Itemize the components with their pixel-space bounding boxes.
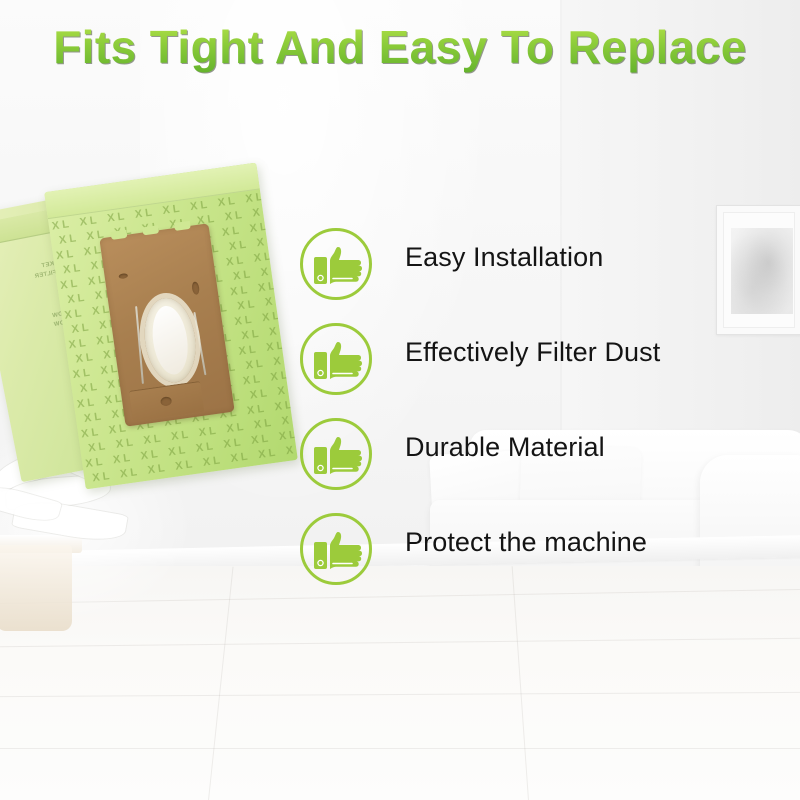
feature-label: Durable Material — [405, 432, 605, 463]
feature-item[interactable]: Easy Installation — [300, 228, 770, 323]
feature-list: Easy Installation Effectively Filter Dus… — [300, 228, 770, 608]
collar-filter-membrane — [149, 304, 192, 377]
thumbs-up-glyph — [314, 340, 362, 384]
thumbs-up-glyph — [314, 530, 362, 574]
feature-label: Effectively Filter Dust — [405, 337, 660, 368]
thumbs-up-icon — [300, 513, 372, 585]
collar-tab — [129, 381, 205, 422]
collar-mount-hole — [191, 281, 200, 295]
product-image: HOLD OPEN POCKET AND LINE UP WITH FILTER… — [0, 170, 310, 500]
marketing-banner: Fits Tight And Easy To Replace HOLD OPEN… — [0, 0, 800, 800]
feature-label: Protect the machine — [405, 527, 647, 558]
thumbs-up-glyph — [314, 435, 362, 479]
page-title: Fits Tight And Easy To Replace — [0, 20, 800, 74]
collar-tab-hole — [160, 396, 172, 406]
feature-item[interactable]: Protect the machine — [300, 513, 770, 608]
collar-opening — [139, 295, 200, 386]
collar-wire — [135, 306, 144, 384]
feature-item[interactable]: Effectively Filter Dust — [300, 323, 770, 418]
thumbs-up-icon — [300, 228, 372, 300]
plant-pot — [0, 545, 72, 631]
thumbs-up-icon — [300, 418, 372, 490]
thumbs-up-icon — [300, 323, 372, 395]
thumbs-up-glyph — [314, 245, 362, 289]
feature-item[interactable]: Durable Material — [300, 418, 770, 513]
collar-mount-hole — [118, 273, 128, 279]
feature-label: Easy Installation — [405, 242, 603, 273]
